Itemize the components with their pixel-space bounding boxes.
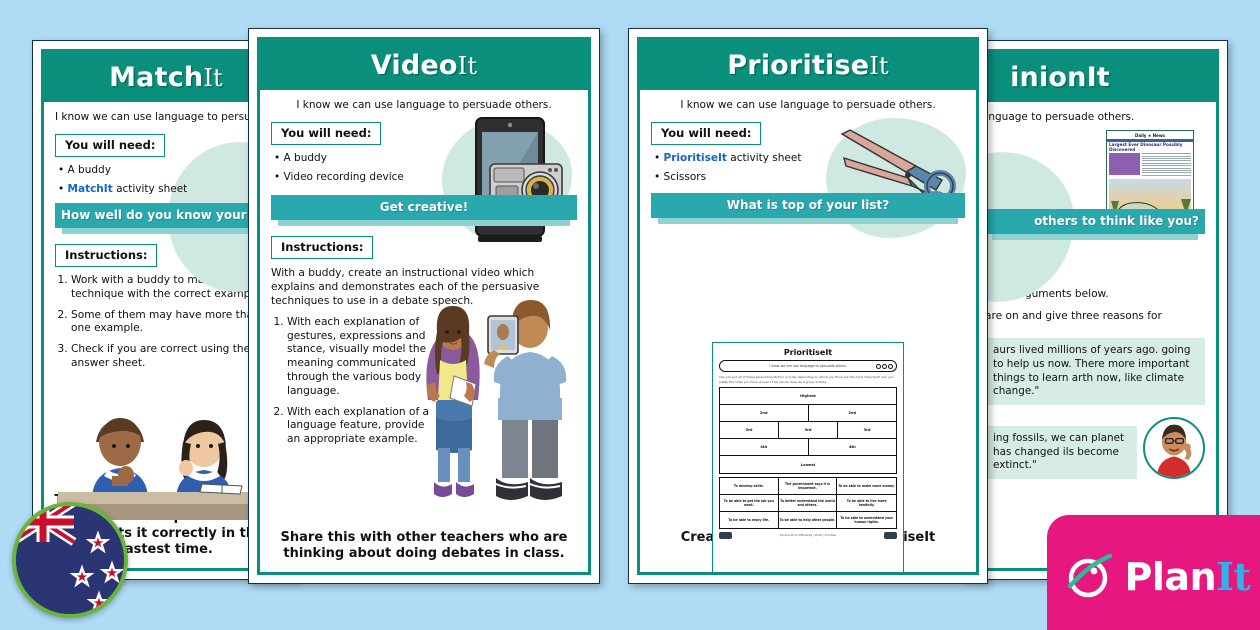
pyramid-row-4: 4th 4th xyxy=(720,439,896,456)
list-item: MatchIt activity sheet xyxy=(58,183,277,195)
planit-logo-badge[interactable]: PlanIt xyxy=(1054,522,1260,630)
worksheet-objective-pill: I know we can use language to persuade o… xyxy=(719,360,897,372)
ribbon-shadow xyxy=(658,218,958,224)
card-videoit-instructions-label: Instructions: xyxy=(271,236,373,259)
card-prioritiseit-subtitle: I know we can use language to persuade o… xyxy=(651,99,965,111)
card-opinionit-quote-one: aurs lived millions of years ago. going … xyxy=(985,338,1205,405)
card-opinionit-quote-two: ing fossils, we can planet has changed i… xyxy=(985,426,1137,479)
pyramid-top-label: Highest xyxy=(720,388,896,404)
pyramid-row-bottom: Lowest xyxy=(720,456,896,473)
list-item: Some of them may have more than one exam… xyxy=(71,309,277,337)
newspaper-columns xyxy=(1107,153,1193,177)
list-item: A buddy xyxy=(58,164,277,176)
card-videoit-body: I know we can use language to persuade o… xyxy=(260,90,588,572)
worksheet-footer: Explore Africa Differently | PlanIt | Pr… xyxy=(719,532,897,539)
card-opinionit-header: inionIt xyxy=(974,52,1216,102)
pyramid-cell: 3rd xyxy=(720,422,779,438)
card-opinionit-title: inionIt xyxy=(1010,62,1110,93)
card-matchit-title: MatchIt xyxy=(109,62,223,93)
list-item: Check if you are correct using the answe… xyxy=(71,343,277,371)
pyramid-cell: 3rd xyxy=(838,422,896,438)
pyramid-cell: 3rd xyxy=(779,422,838,438)
card-prioritiseit-header: PrioritiseIt xyxy=(640,40,976,90)
card-opinionit-inner: inionIt language to persuade others. Dai… xyxy=(971,49,1219,571)
list-item: A buddy xyxy=(274,152,577,164)
planit-wordmark: PlanIt xyxy=(1125,554,1251,599)
newspaper-headline: Largest Ever Dinosaur Possibly Discovere… xyxy=(1107,142,1193,153)
card-prioritiseit-body: I know we can use language to persuade o… xyxy=(640,90,976,572)
cut-out-card: To be able to enjoy life. xyxy=(720,512,779,529)
pyramid-row-top: Highest xyxy=(720,388,896,405)
ribbon-text: How well do you know your persuasive tec… xyxy=(55,203,277,228)
pyramid-cell: 2nd xyxy=(720,405,809,421)
card-videoit-subtitle: I know we can use language to persuade o… xyxy=(271,99,577,111)
prioritiseit-worksheet-thumbnail[interactable]: PrioritiseIt I know we can use language … xyxy=(712,342,904,575)
cut-out-card: To be able to understand your human righ… xyxy=(837,512,896,529)
card-matchit-subtitle: I know we can use language to persuade o… xyxy=(55,111,277,123)
card-videoit-inner: VideoIt I know we can use language to pe… xyxy=(257,37,591,575)
newspaper-masthead: Daily ★ News xyxy=(1107,131,1193,139)
newspaper-sidebar xyxy=(1109,153,1140,175)
cut-out-card: To be able to get the job you want. xyxy=(720,495,779,512)
card-videoit-you-will-need-label: You will need: xyxy=(271,122,381,145)
card-prioritiseit[interactable]: PrioritiseIt I know we can use language … xyxy=(628,28,988,584)
ribbon-shadow xyxy=(278,220,570,226)
card-matchit-instructions-label: Instructions: xyxy=(55,244,157,267)
new-zealand-flag-badge xyxy=(12,502,128,618)
card-matchit-ribbon: How well do you know your persuasive tec… xyxy=(55,203,277,234)
worksheet-title: PrioritiseIt xyxy=(719,348,897,357)
pyramid-cell: 4th xyxy=(809,439,897,455)
cut-out-card: To better understand the world and other… xyxy=(779,495,838,512)
card-videoit[interactable]: VideoIt I know we can use language to pe… xyxy=(248,28,600,584)
list-item: PrioritiseIt activity sheet xyxy=(654,152,965,164)
planet-with-ring-icon xyxy=(1064,550,1116,602)
ribbon-text: others to think like you? xyxy=(985,209,1205,234)
worksheet-dots xyxy=(876,364,893,369)
newspaper-text xyxy=(1142,153,1191,177)
worksheet-cut-out-cards: To develop skills. The government says i… xyxy=(719,477,897,529)
card-videoit-footer: Share this with other teachers who are t… xyxy=(270,530,578,563)
card-prioritiseit-inner: PrioritiseIt I know we can use language … xyxy=(637,37,979,575)
cut-out-card: To be able to help other people. xyxy=(779,512,838,529)
cut-out-card: To be able to make more money. xyxy=(837,478,896,495)
ribbon-text: What is top of your list? xyxy=(651,193,965,218)
worksheet-pyramid: Highest 2nd 2nd 3rd 3rd 3rd 4th xyxy=(719,387,897,474)
card-videoit-title: VideoIt xyxy=(371,50,477,81)
card-matchit-you-will-need-label: You will need: xyxy=(55,134,165,157)
pyramid-cell: 2nd xyxy=(809,405,897,421)
screenshot-stage: MatchIt I know we can use language to pe… xyxy=(0,0,1260,630)
cut-out-card: The government says it is important. xyxy=(779,478,838,495)
card-prioritiseit-you-will-need-label: You will need: xyxy=(651,122,761,145)
worksheet-blurb: Can you put all of these persuading fact… xyxy=(719,375,897,384)
card-prioritiseit-materials: PrioritiseIt activity sheet Scissors xyxy=(654,152,965,183)
ribbon-shadow xyxy=(62,228,270,234)
worksheet-footer-text: Explore Africa Differently | PlanIt | Pr… xyxy=(780,534,836,537)
card-videoit-materials: A buddy Video recording device xyxy=(274,152,577,183)
card-opinionit-body: language to persuade others. Daily ★ New… xyxy=(974,102,1216,568)
worksheet-logo-left-icon xyxy=(719,532,732,539)
card-opinionit-ribbon: others to think like you? xyxy=(985,209,1205,240)
ribbon-text: Get creative! xyxy=(271,195,577,220)
card-prioritiseit-title: PrioritiseIt xyxy=(727,50,889,81)
card-videoit-ribbon: Get creative! xyxy=(271,195,577,226)
worksheet-logo-right-icon xyxy=(884,532,897,539)
card-videoit-header: VideoIt xyxy=(260,40,588,90)
pyramid-cell: 4th xyxy=(720,439,809,455)
card-opinionit[interactable]: inionIt language to persuade others. Dai… xyxy=(962,40,1228,580)
card-matchit-materials: A buddy MatchIt activity sheet xyxy=(58,164,277,195)
card-prioritiseit-ribbon: What is top of your list? xyxy=(651,193,965,224)
list-item: Scissors xyxy=(654,171,965,183)
ribbon-shadow xyxy=(992,234,1198,240)
card-opinionit-subtitle: language to persuade others. xyxy=(979,111,1205,123)
pyramid-bottom-label: Lowest xyxy=(720,456,896,473)
pupil-speaking-avatar xyxy=(1143,417,1205,479)
pupils-filming-illustration xyxy=(392,288,582,518)
card-opinionit-line-3: are on and give three reasons for xyxy=(985,310,1205,324)
pyramid-row-3: 3rd 3rd 3rd xyxy=(720,422,896,439)
cut-out-card: To develop skills. xyxy=(720,478,779,495)
cut-out-card: To be able to live more healthily. xyxy=(837,495,896,512)
pyramid-row-2: 2nd 2nd xyxy=(720,405,896,422)
list-item: Video recording device xyxy=(274,171,577,183)
